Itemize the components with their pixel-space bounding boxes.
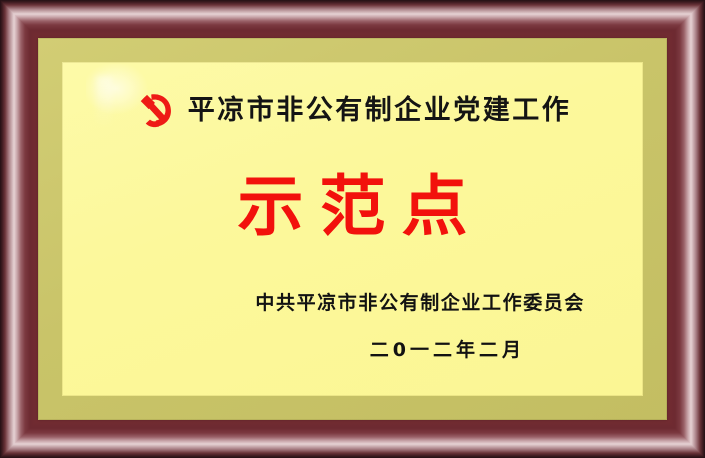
plaque-signature-block: 中共平凉市非公有制企业工作委员会 二0一二年二月 bbox=[62, 294, 643, 360]
plaque-issuer: 中共平凉市非公有制企业工作委员会 bbox=[62, 294, 585, 313]
plaque-issue-date: 二0一二年二月 bbox=[62, 341, 525, 360]
plaque-title: 平凉市非公有制企业党建工作 bbox=[188, 97, 572, 124]
plaque-panel: 平凉市非公有制企业党建工作 示范点 中共平凉市非公有制企业工作委员会 二0一二年… bbox=[62, 62, 643, 396]
award-plaque: 平凉市非公有制企业党建工作 示范点 中共平凉市非公有制企业工作委员会 二0一二年… bbox=[0, 0, 705, 458]
cpc-hammer-sickle-emblem-icon bbox=[134, 89, 176, 131]
plaque-title-row: 平凉市非公有制企业党建工作 bbox=[62, 89, 643, 131]
plaque-headline: 示范点 bbox=[62, 172, 643, 241]
